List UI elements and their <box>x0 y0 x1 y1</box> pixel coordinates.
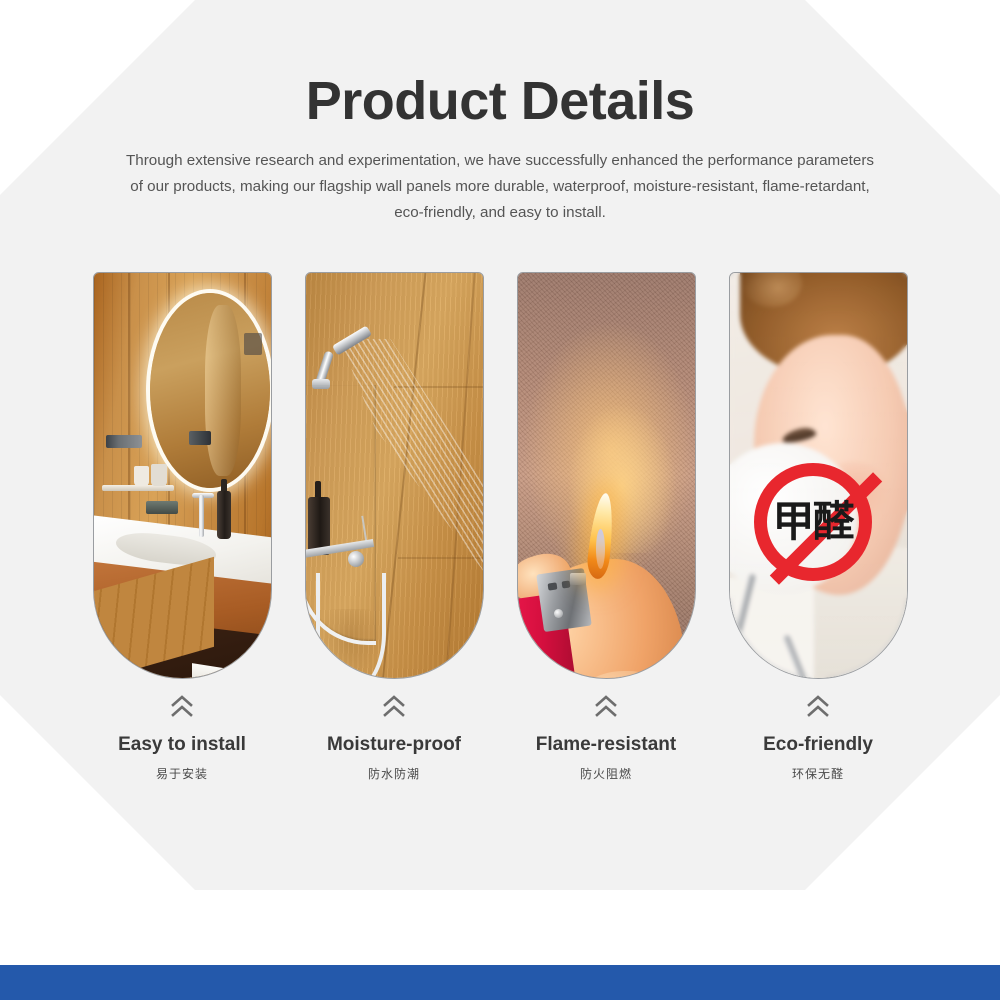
flame-glow <box>567 403 677 553</box>
double-chevron-up-icon <box>805 693 831 724</box>
feature-card-easy-to-install[interactable]: Easy to install 易于安装 <box>93 272 272 782</box>
feature-caption: Flame-resistant 防火阻燃 <box>536 693 676 782</box>
faucet-body <box>199 495 204 537</box>
feature-panel-row: Easy to install 易于安装 <box>0 272 1000 782</box>
feature-label-en: Moisture-proof <box>327 734 461 756</box>
cup <box>151 464 167 486</box>
soap-dispenser <box>217 491 231 539</box>
shower-hose-loop <box>316 573 386 679</box>
feature-image-moisture-proof <box>305 272 484 679</box>
feature-label-zh: 防水防潮 <box>368 765 420 782</box>
feature-image-flame-resistant <box>517 272 696 679</box>
double-chevron-up-icon <box>593 693 619 724</box>
feature-image-easy-to-install <box>93 272 272 679</box>
wall-control-panel <box>244 333 262 355</box>
page-title: Product Details <box>0 70 1000 132</box>
feature-label-en: Easy to install <box>118 734 246 756</box>
feature-label-zh: 防火阻燃 <box>580 765 632 782</box>
light-switch <box>106 435 142 448</box>
header: Product Details Through extensive resear… <box>0 0 1000 226</box>
bottom-accent-bar <box>0 965 1000 1000</box>
oval-led-mirror <box>150 293 270 488</box>
light-switch <box>189 431 211 445</box>
mirror-reflection <box>205 305 241 477</box>
lighter-rivet <box>554 609 563 618</box>
lighter-vent <box>561 580 570 588</box>
double-chevron-up-icon <box>381 693 407 724</box>
no-formaldehyde-icon: 甲醛 <box>754 463 872 581</box>
spark-wheel <box>570 573 586 585</box>
feature-card-flame-resistant[interactable]: Flame-resistant 防火阻燃 <box>517 272 696 782</box>
soap-tray <box>146 501 178 514</box>
feature-label-zh: 易于安装 <box>156 765 208 782</box>
double-chevron-up-icon <box>169 693 195 724</box>
feature-image-eco-friendly: 甲醛 <box>729 272 908 679</box>
feature-caption: Moisture-proof 防水防潮 <box>327 693 461 782</box>
shower-valve <box>348 551 364 567</box>
no-formaldehyde-label: 甲醛 <box>772 501 852 543</box>
page-subtitle: Through extensive research and experimen… <box>120 148 880 226</box>
lighter-vent <box>547 582 557 590</box>
cup <box>134 466 149 486</box>
feature-label-zh: 环保无醛 <box>792 765 844 782</box>
feature-label-en: Flame-resistant <box>536 734 676 756</box>
feature-card-moisture-proof[interactable]: Moisture-proof 防水防潮 <box>305 272 484 782</box>
feature-card-eco-friendly[interactable]: 甲醛 Eco-friendly 环保无醛 <box>729 272 908 782</box>
flame-core <box>596 529 605 569</box>
wall-seam <box>398 557 483 559</box>
feature-label-en: Eco-friendly <box>763 734 873 756</box>
feature-caption: Easy to install 易于安装 <box>118 693 246 782</box>
feature-caption: Eco-friendly 环保无醛 <box>763 693 873 782</box>
